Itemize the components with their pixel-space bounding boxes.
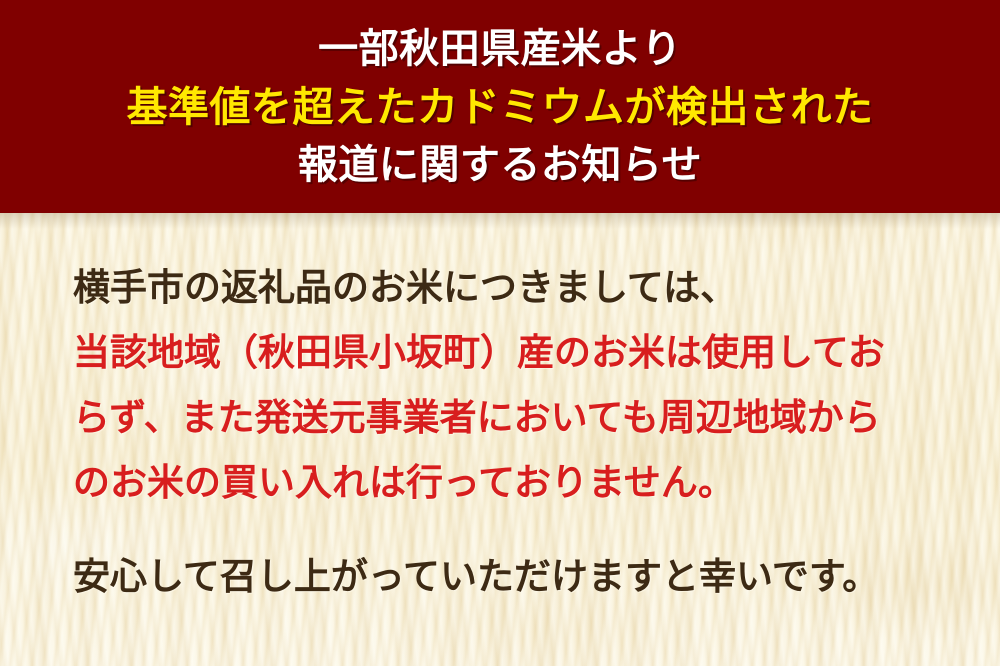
banner-headline-line-2: 基準値を超えたカドミウムが検出された — [127, 78, 874, 136]
body-paragraph-line-1: 横手市の返礼品のお米につきましては、 — [73, 255, 973, 320]
notice-banner-header: 一部秋田県産米より 基準値を超えたカドミウムが検出された 報道に関するお知らせ — [0, 0, 1000, 213]
notice-body: 横手市の返礼品のお米につきましては、 当該地域（秋田県小坂町）産のお米は使用して… — [73, 255, 973, 609]
notice-poster: 一部秋田県産米より 基準値を超えたカドミウムが検出された 報道に関するお知らせ … — [0, 0, 1000, 666]
body-paragraph-line-3: らず、また発送元事業者においても周辺地域から — [73, 385, 973, 450]
body-closing-line: 安心して召し上がっていただけますと幸いです。 — [73, 544, 973, 609]
body-paragraph-line-2: 当該地域（秋田県小坂町）産のお米は使用してお — [73, 320, 973, 385]
banner-headline-line-1: 一部秋田県産米より — [318, 20, 682, 78]
body-paragraph-line-4: のお米の買い入れは行っておりません。 — [73, 450, 973, 515]
banner-headline-line-3: 報道に関するお知らせ — [298, 136, 702, 194]
